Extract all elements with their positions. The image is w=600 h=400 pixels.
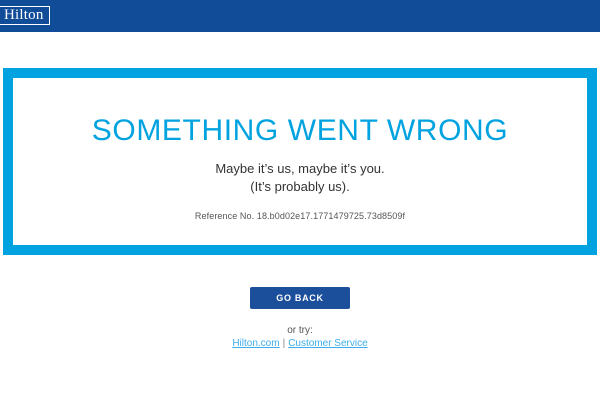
actions-area: GO BACK	[0, 287, 600, 309]
link-separator: |	[280, 338, 289, 349]
error-subtext-line-1: Maybe it’s us, maybe it’s you.	[13, 160, 587, 178]
go-back-button[interactable]: GO BACK	[250, 287, 350, 309]
hilton-logo[interactable]: Hilton	[0, 6, 50, 25]
site-header: Hilton	[0, 0, 600, 32]
hilton-logo-text: Hilton	[4, 8, 44, 23]
error-subtext: Maybe it’s us, maybe it’s you. (It’s pro…	[13, 160, 587, 196]
error-panel: SOMETHING WENT WRONG Maybe it’s us, mayb…	[3, 68, 597, 255]
customer-service-link[interactable]: Customer Service	[288, 338, 367, 349]
error-subtext-line-2: (It’s probably us).	[13, 178, 587, 196]
error-headline: SOMETHING WENT WRONG	[13, 114, 587, 148]
footer-links: Hilton.com|Customer Service	[0, 338, 600, 349]
or-try-label: or try:	[0, 325, 600, 336]
error-panel-content: SOMETHING WENT WRONG Maybe it’s us, mayb…	[13, 78, 587, 245]
error-reference-number: Reference No. 18.b0d02e17.1771479725.73d…	[13, 211, 587, 221]
hilton-com-link[interactable]: Hilton.com	[232, 338, 279, 349]
